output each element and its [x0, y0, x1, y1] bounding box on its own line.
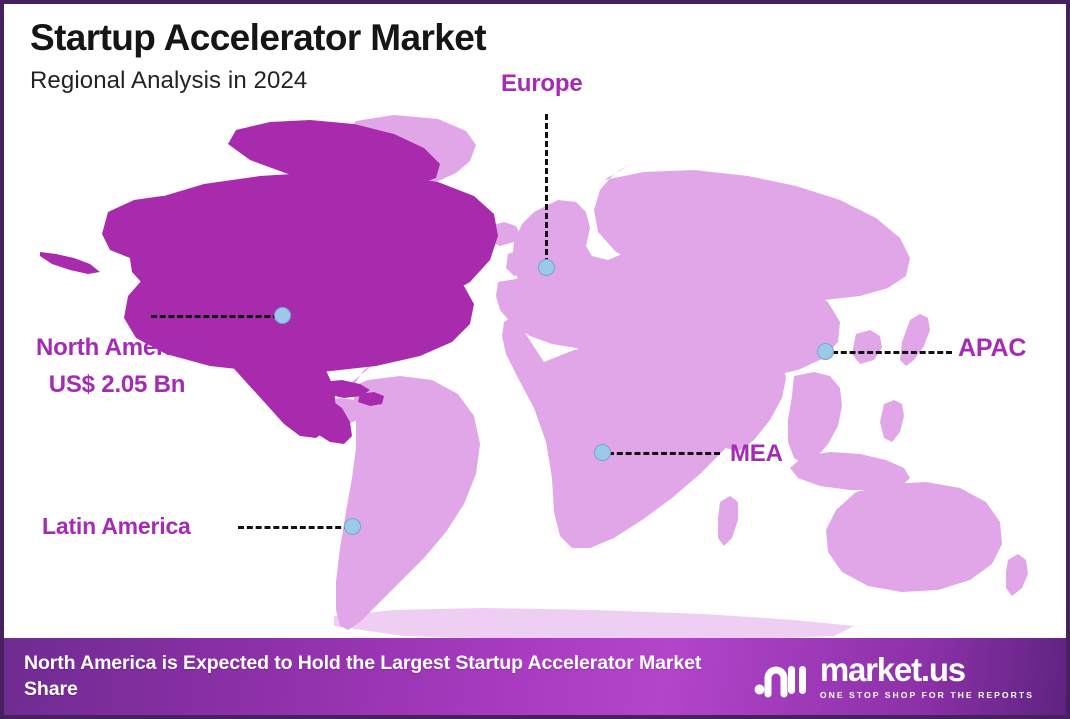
region-east-china: [852, 330, 882, 364]
region-japan: [900, 314, 930, 366]
market-us-logo-icon: [754, 656, 808, 698]
leader-line-mea: [608, 452, 720, 455]
region-label-mea: MEA: [730, 440, 783, 468]
region-southeast-asia: [788, 372, 842, 464]
world-map: [4, 4, 1066, 644]
region-label-europe: Europe: [501, 70, 582, 98]
leader-line-latin-america: [238, 526, 350, 529]
map-marker-europe[interactable]: [538, 259, 555, 276]
region-label-north-america: North America: [17, 334, 217, 362]
market-us-logo[interactable]: market.us ONE STOP SHOP FOR THE REPORTS: [754, 653, 1034, 700]
footer-banner: North America is Expected to Hold the La…: [4, 638, 1066, 715]
region-label-apac: APAC: [958, 334, 1026, 363]
world-map-svg: [4, 4, 1066, 644]
map-marker-mea[interactable]: [594, 444, 611, 461]
logo-text-block: market.us ONE STOP SHOP FOR THE REPORTS: [820, 653, 1034, 700]
region-philippines: [880, 400, 904, 442]
leader-line-apac: [832, 351, 952, 354]
infographic-root: Startup Accelerator Market Regional Anal…: [0, 0, 1070, 719]
map-marker-latin-america[interactable]: [344, 518, 361, 535]
region-australia: [826, 482, 1002, 592]
region-aleutians: [40, 252, 100, 274]
leader-line-north-america: [151, 315, 279, 318]
logo-tagline: ONE STOP SHOP FOR THE REPORTS: [820, 690, 1034, 700]
logo-wordmark: market.us: [820, 653, 1034, 686]
banner-headline: North America is Expected to Hold the La…: [24, 651, 754, 703]
region-label-latin-america: Latin America: [42, 513, 191, 540]
map-marker-apac[interactable]: [817, 343, 834, 360]
map-marker-north-america[interactable]: [274, 307, 291, 324]
leader-line-europe: [545, 114, 548, 264]
region-new-zealand: [1006, 554, 1028, 596]
region-madagascar: [718, 496, 738, 546]
region-value-north-america: US$ 2.05 Bn: [17, 371, 217, 399]
region-antarctic-fringe: [334, 608, 854, 640]
